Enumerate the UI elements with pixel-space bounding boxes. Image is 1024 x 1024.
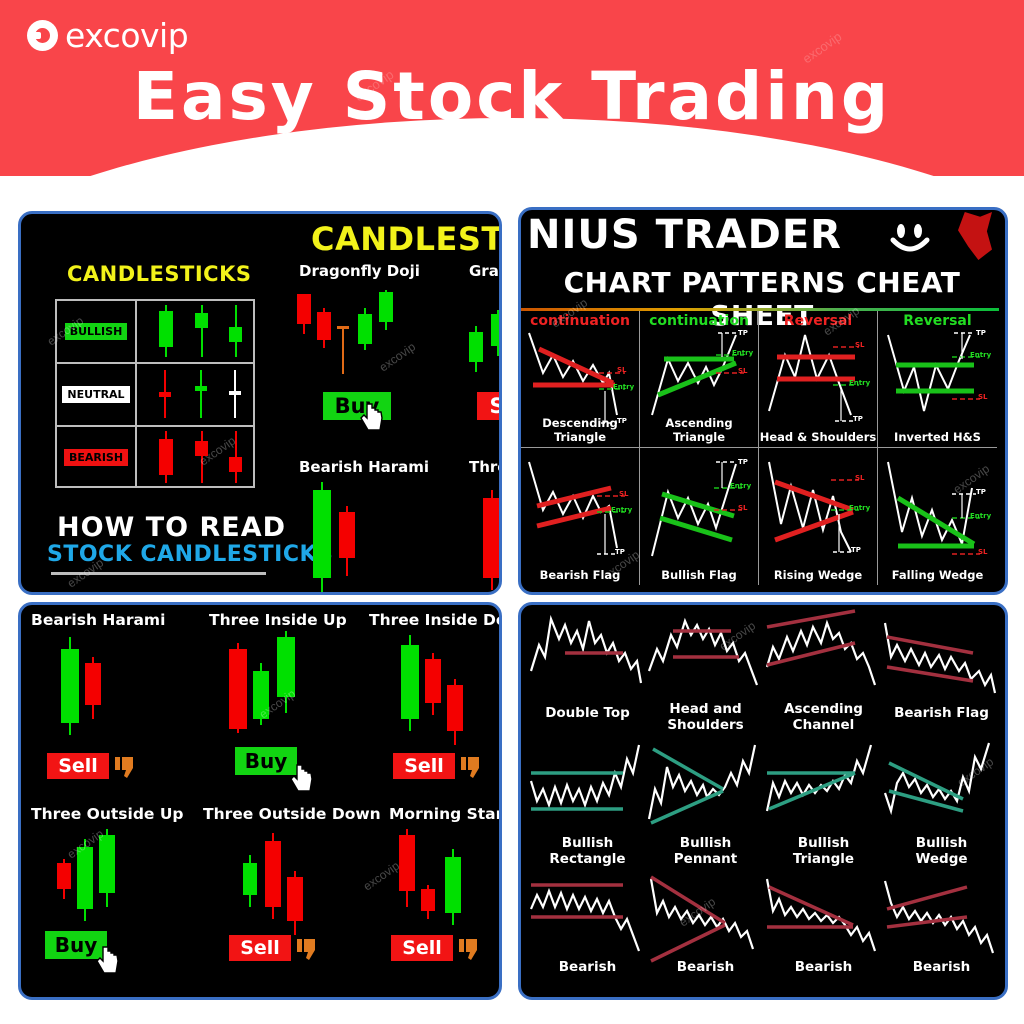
pattern-cell-bearish-flag[interactable]: SL Entry TP Bearish Flag: [521, 448, 640, 585]
entry-tag: Entry: [970, 512, 991, 520]
candle: [358, 308, 372, 350]
pattern-header: continuation: [640, 313, 758, 329]
sl-tag: SL: [738, 504, 748, 512]
candle: [287, 871, 303, 935]
sell-button[interactable]: S: [477, 392, 502, 420]
candle: [195, 370, 207, 418]
panel-chart-pattern-shapes: Double Top Head and Shoulders Ascending …: [518, 602, 1008, 1000]
bullish-candles: [137, 301, 255, 362]
row-label-cell: BEARISH: [55, 427, 137, 488]
circle-arrow-logo-icon: [27, 20, 58, 51]
candle: [277, 631, 295, 713]
shape-cell-bearish-pennant[interactable]: Bearish: [645, 873, 766, 997]
sell-button[interactable]: Sell: [47, 753, 109, 779]
how-to-read-line2: STOCK CANDLESTICKS: [47, 542, 333, 567]
sl-tag: SL: [855, 341, 865, 349]
signal-label-three-inside-down: Three Inside Down: [369, 611, 502, 629]
row-label-cell: NEUTRAL: [55, 364, 137, 425]
pattern-label: Bearish Flag: [521, 568, 639, 582]
candle: [61, 637, 79, 735]
bearish-candles: [137, 427, 255, 488]
candle: [297, 294, 311, 334]
pattern-label: Ascending Triangle: [640, 416, 758, 444]
candle: [253, 663, 269, 725]
pattern-header: Reversal: [878, 313, 997, 329]
brand-name: excovip: [65, 16, 188, 55]
page-header: excovip Easy Stock Trading excovip excov…: [0, 0, 1024, 176]
candle: [229, 370, 241, 418]
shape-cell-bullish-rectangle[interactable]: Bullish Rectangle: [527, 739, 648, 863]
shape-label: Double Top: [527, 705, 648, 721]
shape-cell-bearish-triangle[interactable]: Bearish: [763, 873, 884, 997]
panel-chart-patterns-cheat-sheet: NIUS TRADER CHART PATTERNS CHEAT SHEET c…: [518, 207, 1008, 595]
hand-cursor-icon: [289, 763, 315, 793]
row-label-cell: BULLISH: [55, 301, 137, 362]
sl-tag: SL: [617, 366, 627, 374]
tp-tag: TP: [615, 548, 625, 556]
bullish-badge: BULLISH: [65, 323, 128, 340]
shape-label: Head and Shoulders: [645, 701, 766, 733]
candle: [379, 290, 393, 330]
pattern-label-three: Thre: [469, 458, 502, 476]
candle: [243, 855, 257, 907]
cheatsheet-grid: continuation SL Entry TP Descending Tria…: [521, 311, 999, 586]
pattern-label: Inverted H&S: [878, 430, 997, 444]
pattern-label-bearish-harami: Bearish Harami: [299, 458, 429, 476]
shape-label: Bearish: [881, 959, 1002, 975]
shape-cell-head-and-shoulders[interactable]: Head and Shoulders: [645, 609, 766, 733]
shape-cell-bearish-wedge[interactable]: Bearish: [881, 873, 1002, 997]
pattern-cell-bullish-flag[interactable]: TP Entry SL Bullish Flag: [640, 448, 759, 585]
candle: [159, 370, 171, 418]
pattern-cell-descending-triangle[interactable]: continuation SL Entry TP Descending Tria…: [521, 311, 640, 448]
shape-label: Ascending Channel: [763, 701, 884, 733]
candle: [317, 308, 331, 348]
signal-label-three-outside-up: Three Outside Up: [31, 805, 184, 823]
sell-button[interactable]: Sell: [391, 935, 453, 961]
shape-cell-bearish-flag[interactable]: Bearish Flag: [881, 609, 1002, 733]
signal-label-three-outside-down: Three Outside Down: [203, 805, 381, 823]
entry-tag: Entry: [611, 506, 632, 514]
shape-label: Bearish Flag: [881, 705, 1002, 721]
candle: [313, 482, 331, 592]
pattern-header: Reversal: [759, 313, 877, 329]
table-row: BEARISH: [55, 427, 255, 488]
brand-logo[interactable]: excovip: [27, 16, 188, 55]
candle: [159, 305, 173, 357]
pattern-label-dragonfly-doji: Dragonfly Doji: [299, 262, 420, 280]
candle: [229, 431, 242, 483]
cheatsheet-brand-title: NIUS TRADER: [527, 212, 842, 258]
panel-candlestick-signals: Bearish Harami Sell Three Inside Up Buy …: [18, 602, 502, 1000]
pattern-label: Falling Wedge: [878, 568, 997, 582]
buy-button[interactable]: Buy: [235, 747, 297, 775]
candle: [265, 833, 281, 919]
neutral-badge: NEUTRAL: [62, 386, 129, 403]
candle: [421, 885, 435, 919]
entry-tag: Entry: [849, 504, 870, 512]
shape-cell-bullish-wedge[interactable]: Bullish Wedge: [881, 739, 1002, 863]
pattern-label: Rising Wedge: [759, 568, 877, 582]
pattern-label: Bullish Flag: [640, 568, 758, 582]
shape-label: Bearish: [527, 959, 648, 975]
watermark: excovip: [377, 340, 418, 375]
shape-cell-bullish-triangle[interactable]: Bullish Triangle: [763, 739, 884, 863]
candlestick-headline: CANDLESTICK: [311, 220, 502, 258]
table-row: BULLISH: [55, 301, 255, 364]
candlesticks-table: BULLISH NEUTRAL: [55, 299, 255, 488]
tp-tag: TP: [851, 546, 861, 554]
candle: [85, 657, 101, 719]
signal-label-bearish-harami: Bearish Harami: [31, 611, 165, 629]
bull-logo-icon: [958, 212, 992, 260]
candle: [491, 310, 502, 356]
pattern-label-gravestone-doji: Grave: [469, 262, 502, 280]
how-to-read-line1: HOW TO READ: [57, 512, 286, 543]
candle: [159, 431, 173, 483]
candle: [425, 653, 441, 715]
watermark: excovip: [361, 859, 402, 894]
candle: [57, 859, 71, 899]
tp-tag: TP: [976, 488, 986, 496]
sl-tag: SL: [855, 474, 865, 482]
entry-tag: Entry: [730, 482, 751, 490]
sl-tag: SL: [978, 548, 988, 556]
entry-tag: Entry: [970, 351, 991, 359]
entry-tag: Entry: [732, 349, 753, 357]
signal-label-morning-star: Morning Star: [389, 805, 502, 823]
candle: [483, 490, 501, 590]
pattern-cell-falling-wedge[interactable]: TP Entry SL Falling Wedge: [878, 448, 997, 585]
shape-label: Bullish Rectangle: [527, 835, 648, 867]
shape-cell-bearish-rectangle[interactable]: Bearish: [527, 873, 648, 997]
candle: [77, 839, 93, 921]
candle: [339, 506, 355, 576]
pattern-cell-head-and-shoulders[interactable]: Reversal SL Entry TP Head & Shoulders: [759, 311, 878, 448]
shape-label: Bullish Pennant: [645, 835, 766, 867]
thumbs-down-icon: [297, 939, 317, 961]
page-title: Easy Stock Trading: [0, 58, 1024, 135]
entry-tag: Entry: [613, 383, 634, 391]
thumbs-down-icon: [115, 757, 135, 779]
candle: [469, 326, 483, 372]
shape-cell-ascending-channel[interactable]: Ascending Channel: [763, 609, 884, 733]
pattern-header: continuation: [521, 313, 639, 329]
thumbs-down-icon: [459, 939, 479, 961]
hand-cursor-icon: [95, 945, 121, 975]
candle: [447, 679, 463, 745]
candle: [445, 849, 461, 925]
tp-tag: TP: [853, 415, 863, 423]
bearish-badge: BEARISH: [64, 449, 128, 466]
thumbs-down-icon: [461, 757, 481, 779]
divider: [51, 572, 266, 575]
entry-tag: Entry: [849, 379, 870, 387]
candle: [195, 305, 208, 357]
sell-button[interactable]: Sell: [229, 935, 291, 961]
candle: [195, 431, 208, 483]
sl-tag: SL: [978, 393, 988, 401]
candle: [99, 829, 115, 907]
tp-tag: TP: [976, 329, 986, 337]
candle-dragonfly-doji: [337, 324, 349, 374]
shape-cell-double-top[interactable]: Double Top: [527, 609, 648, 733]
shape-cell-bullish-pennant[interactable]: Bullish Pennant: [645, 739, 766, 863]
pattern-label: Head & Shoulders: [759, 430, 877, 444]
candle: [399, 829, 415, 907]
pattern-cell-rising-wedge[interactable]: SL Entry TP Rising Wedge: [759, 448, 878, 585]
candle: [229, 305, 242, 357]
pattern-cell-inverted-hs[interactable]: Reversal TP Entry SL Inverted H&S: [878, 311, 997, 448]
tp-tag: TP: [738, 458, 748, 466]
shape-label: Bullish Wedge: [881, 835, 1002, 867]
table-row: NEUTRAL: [55, 364, 255, 427]
shape-label: Bullish Triangle: [763, 835, 884, 867]
sell-button[interactable]: Sell: [393, 753, 455, 779]
shape-label: Bearish: [645, 959, 766, 975]
pattern-cell-ascending-triangle[interactable]: continuation TP Entry SL Ascending Trian…: [640, 311, 759, 448]
shape-label: Bearish: [763, 959, 884, 975]
candle: [229, 643, 247, 733]
sl-tag: SL: [738, 367, 748, 375]
neutral-candles: [137, 364, 255, 425]
pattern-label: Descending Triangle: [521, 416, 639, 444]
tp-tag: TP: [738, 329, 748, 337]
candlesticks-table-title: CANDLESTICKS: [67, 262, 251, 286]
panel-candlesticks-infographic: CANDLESTICK CANDLESTICKS BULLISH NEUTRAL: [18, 211, 502, 595]
hand-cursor-icon: [359, 402, 385, 432]
candle: [401, 635, 419, 731]
signal-label-three-inside-up: Three Inside Up: [209, 611, 347, 629]
smiley-face-icon: [889, 222, 931, 258]
sl-tag: SL: [619, 490, 629, 498]
